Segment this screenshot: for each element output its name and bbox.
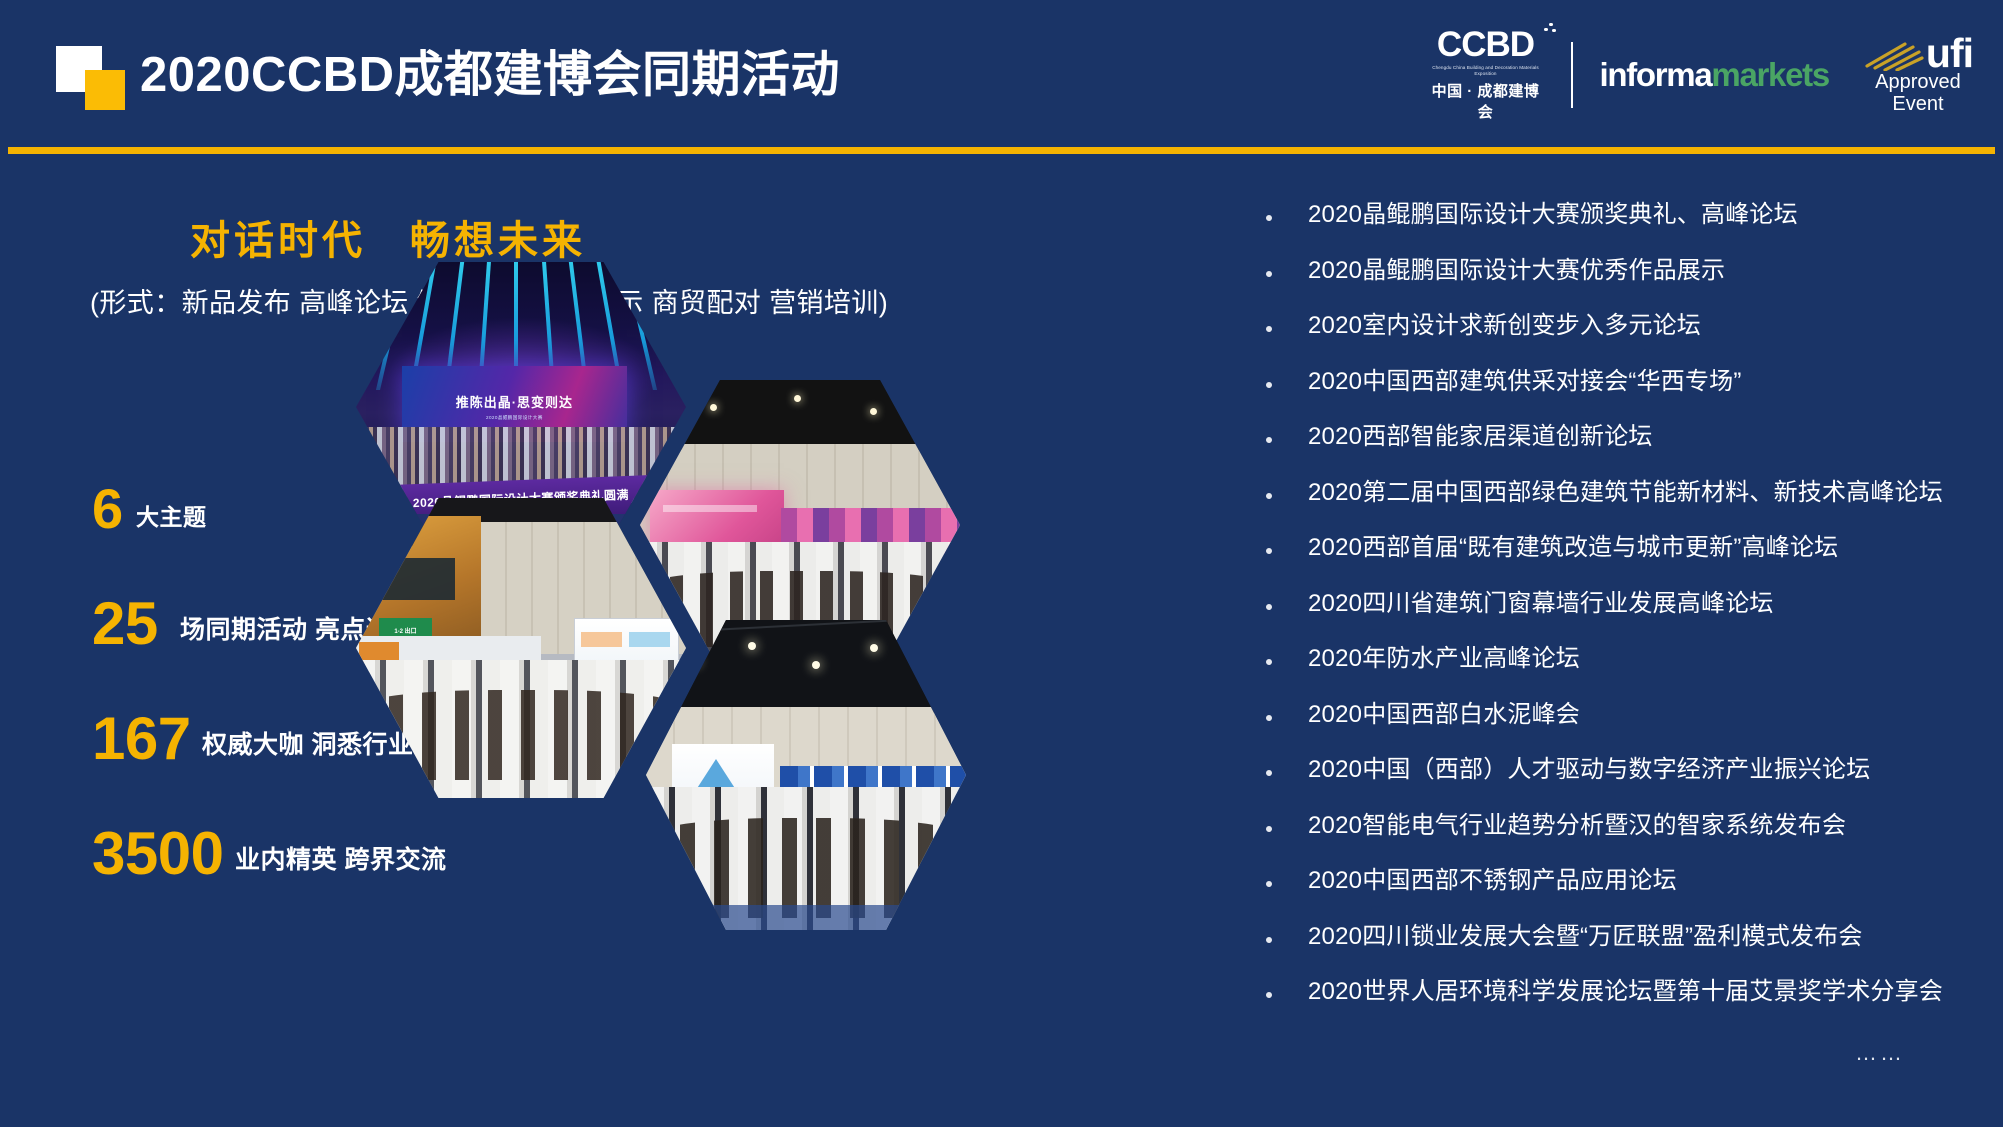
informa-markets-logo: informamarkets [1599,56,1828,94]
stage-subtitle: 2020晶鲲鹏国际设计大赛 [402,415,626,421]
list-item: 2020四川省建筑门窗幕墙行业发展高峰论坛 [1258,587,1978,643]
list-item: 2020室内设计求新创变步入多元论坛 [1258,309,1978,365]
bullet-dot-icon [1266,770,1272,776]
list-item: 2020中国西部建筑供采对接会“华西专场” [1258,365,1978,421]
list-item: 2020西部智能家居渠道创新论坛 [1258,420,1978,476]
list-item-label: 2020中国西部不锈钢产品应用论坛 [1308,867,1677,894]
ufi-approved-label: Approved [1863,72,1973,93]
list-item-label: 2020四川锁业发展大会暨“万匠联盟”盈利模式发布会 [1308,923,1863,950]
bullet-dot-icon [1266,604,1272,610]
list-item-label: 2020四川省建筑门窗幕墙行业发展高峰论坛 [1308,590,1774,617]
photo-blue-stage-conference-audience [646,620,966,930]
list-item: 2020第二届中国西部绿色建筑节能新材料、新技术高峰论坛 [1258,476,1978,532]
list-item-label: 2020晶鲲鹏国际设计大赛颁奖典礼、高峰论坛 [1308,201,1798,228]
bullet-dot-icon [1266,326,1272,332]
list-item: 2020智能电气行业趋势分析暨汉的智家系统发布会 [1258,809,1978,865]
bullet-dot-icon [1266,382,1272,388]
list-item: 2020晶鲲鹏国际设计大赛优秀作品展示 [1258,254,1978,310]
bullet-dot-icon [1266,215,1272,221]
informa-word: informa [1599,56,1711,93]
ufi-swoosh-icon [1863,37,1925,71]
audience-heads [356,690,686,780]
list-item-label: 2020中国西部白水泥峰会 [1308,701,1580,728]
slide-header: 2020CCBD成都建博会同期活动 CCBD Chengdu China Bui… [0,0,2003,148]
list-item-label: 2020晶鲲鹏国际设计大赛优秀作品展示 [1308,257,1725,284]
ufi-logo: ufi Approved Event [1863,35,1973,115]
gold-divider [8,147,1995,154]
markets-word: markets [1711,56,1829,93]
bullet-dot-icon [1266,992,1272,998]
ufi-wordmark: ufi [1926,35,1973,71]
audience-heads [646,818,966,917]
bullet-dot-icon [1266,937,1272,943]
bullet-dot-icon [1266,881,1272,887]
list-item: 2020世界人居环境科学发展论坛暨第十届艾景奖学术分享会 [1258,975,1978,1031]
list-item-label: 2020室内设计求新创变步入多元论坛 [1308,312,1701,339]
list-item-label: 2020智能电气行业趋势分析暨汉的智家系统发布会 [1308,812,1846,839]
ccbd-english-name: Chengdu China Building and Decoration Ma… [1425,65,1545,77]
list-item: 2020中国西部不锈钢产品应用论坛 [1258,864,1978,920]
hexagon-photo-collage: 推陈出晶·思变则达 2020晶鲲鹏国际设计大赛 2020晶鲲鹏国际设计大赛颁奖典… [356,262,956,872]
ccbd-dots-icon [1544,23,1556,35]
headline: 对话时代 畅想未来 [190,208,586,266]
list-continuation-ellipsis: …… [1855,1040,1905,1066]
partner-logos: CCBD Chengdu China Building and Decorati… [1425,32,1973,118]
list-item: 2020中国（西部）人才驱动与数字经济产业振兴论坛 [1258,753,1978,809]
list-item-label: 2020世界人居环境科学发展论坛暨第十届艾景奖学术分享会 [1308,978,1943,1005]
stat-number: 25 [92,594,158,654]
ufi-event-label: Event [1863,94,1973,115]
bullet-dot-icon [1266,493,1272,499]
slide: 2020CCBD成都建博会同期活动 CCBD Chengdu China Bui… [0,0,2003,1127]
list-item: 2020四川锁业发展大会暨“万匠联盟”盈利模式发布会 [1258,920,1978,976]
bullet-dot-icon [1266,271,1272,277]
logo-divider [1571,42,1573,108]
logo-square-gold [85,70,125,110]
list-item-label: 2020第二届中国西部绿色建筑节能新材料、新技术高峰论坛 [1308,479,1943,506]
event-list: 2020晶鲲鹏国际设计大赛颁奖典礼、高峰论坛 2020晶鲲鹏国际设计大赛优秀作品… [1258,198,1978,1031]
stat-number: 3500 [92,824,223,884]
list-item-label: 2020中国（西部）人才驱动与数字经济产业振兴论坛 [1308,756,1870,783]
bullet-dot-icon [1266,548,1272,554]
ccbd-chinese-name: 中国 · 成都建博会 [1425,80,1545,122]
list-item-label: 2020西部首届“既有建筑改造与城市更新”高峰论坛 [1308,534,1838,561]
blue-carpet [646,905,966,930]
list-item: 2020西部首届“既有建筑改造与城市更新”高峰论坛 [1258,531,1978,587]
bullet-dot-icon [1266,826,1272,832]
stage-title: 推陈出晶·思变则达 [402,392,626,411]
ccbd-wordmark: CCBD [1437,28,1534,62]
bullet-dot-icon [1266,437,1272,443]
ccbd-logo: CCBD Chengdu China Building and Decorati… [1425,28,1545,122]
hall-ceiling [646,620,966,713]
photo-seminar-audience-wood-wall: 1-2 出口 [356,498,686,798]
two-squares-logo-icon [56,46,128,106]
bullet-dot-icon [1266,715,1272,721]
list-item-label: 2020年防水产业高峰论坛 [1308,645,1580,672]
list-item: 2020中国西部白水泥峰会 [1258,698,1978,754]
glass-window [376,558,455,600]
page-title: 2020CCBD成都建博会同期活动 [140,44,840,106]
list-item-label: 2020中国西部建筑供采对接会“华西专场” [1308,368,1742,395]
stat-label: 大主题 [136,498,207,532]
stat-number: 167 [92,709,191,769]
bullet-dot-icon [1266,659,1272,665]
stat-number: 6 [92,479,123,539]
list-item: 2020晶鲲鹏国际设计大赛颁奖典礼、高峰论坛 [1258,198,1978,254]
hall-ceiling [640,380,960,450]
list-item-label: 2020西部智能家居渠道创新论坛 [1308,423,1653,450]
list-item: 2020年防水产业高峰论坛 [1258,642,1978,698]
